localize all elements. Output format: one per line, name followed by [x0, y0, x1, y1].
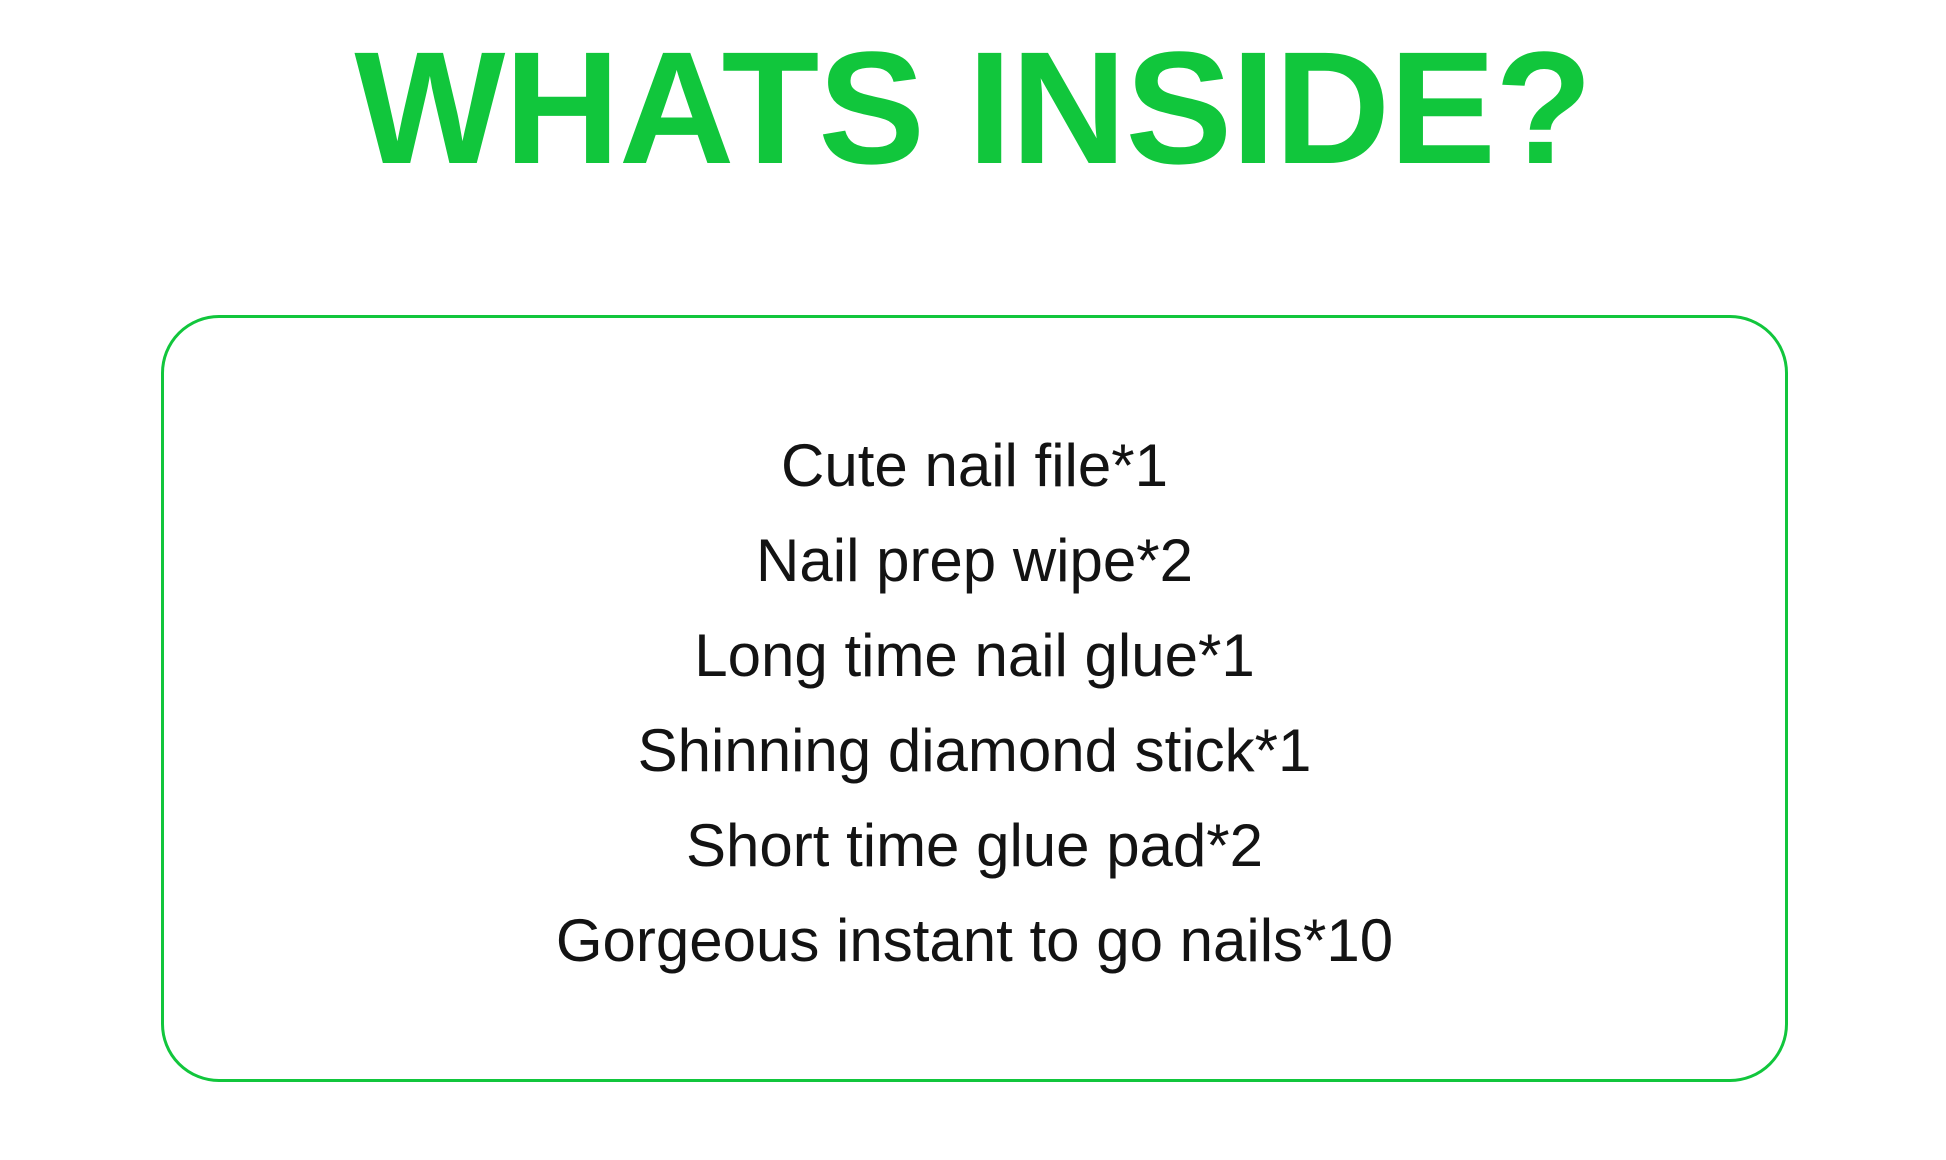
list-item: Nail prep wipe*2 [164, 513, 1785, 608]
list-item: Cute nail file*1 [164, 418, 1785, 513]
list-item: Shinning diamond stick*1 [164, 703, 1785, 798]
page-title: WHATS INSIDE? [0, 28, 1946, 188]
contents-list: Cute nail file*1 Nail prep wipe*2 Long t… [164, 418, 1785, 988]
list-item: Gorgeous instant to go nails*10 [164, 893, 1785, 988]
contents-card: Cute nail file*1 Nail prep wipe*2 Long t… [161, 315, 1788, 1082]
poster-root: WHATS INSIDE? Cute nail file*1 Nail prep… [0, 0, 1946, 1160]
list-item: Long time nail glue*1 [164, 608, 1785, 703]
list-item: Short time glue pad*2 [164, 798, 1785, 893]
